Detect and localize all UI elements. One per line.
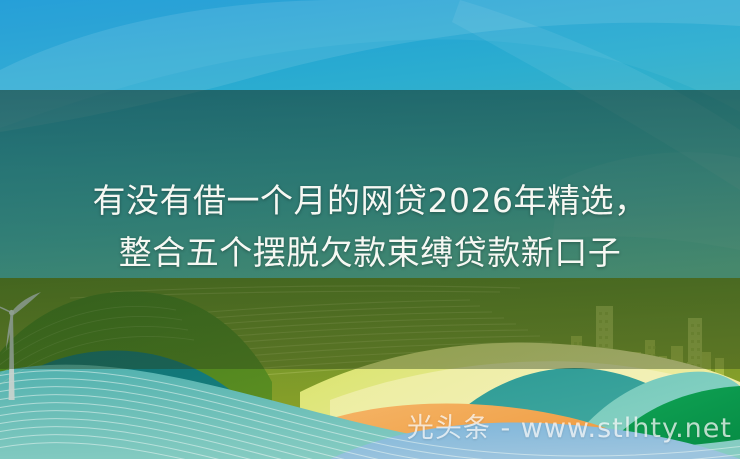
headline-line-2: 整合五个摆脱欠款束缚贷款新口子 bbox=[0, 227, 740, 279]
watermark-text: 光头条 - www.stlhty.net bbox=[407, 406, 732, 445]
banner-image: 有没有借一个月的网贷2026年精选， 整合五个摆脱欠款束缚贷款新口子 光头条 -… bbox=[0, 0, 740, 459]
turbine-hub bbox=[9, 310, 14, 315]
headline-line-1: 有没有借一个月的网贷2026年精选， bbox=[0, 175, 740, 227]
page-title: 有没有借一个月的网贷2026年精选， 整合五个摆脱欠款束缚贷款新口子 bbox=[0, 175, 740, 279]
